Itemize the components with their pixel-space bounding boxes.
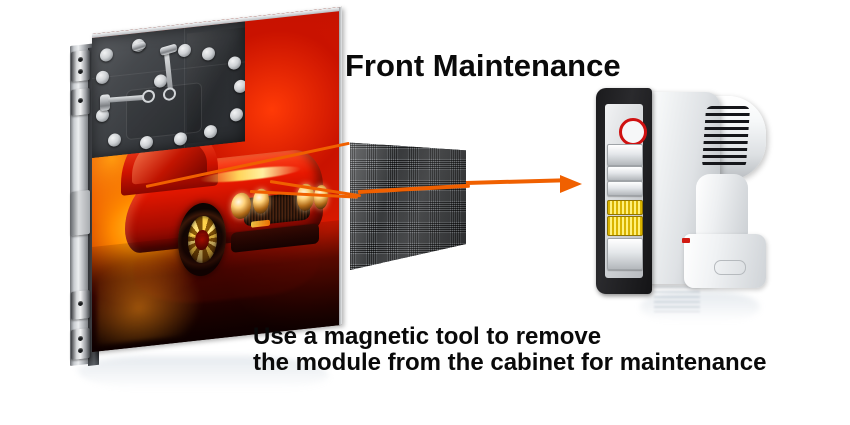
bracket-hole-icon [78, 336, 83, 342]
bracket-hole-icon [78, 348, 83, 354]
caption: Use a magnetic tool to remove the module… [253, 324, 766, 376]
tool-magnet-plate [607, 166, 643, 181]
cabinet-bracket-top [71, 50, 90, 82]
bracket-hole-icon [78, 98, 83, 104]
cavity-magnet [234, 79, 245, 93]
tool-faceplate [596, 88, 652, 294]
caption-line-2: the module from the cabinet for maintena… [253, 350, 766, 376]
tool-base-slot [714, 260, 746, 275]
cavity-magnet [140, 135, 153, 149]
page-title: Front Maintenance [345, 48, 621, 84]
tool-seal-icon [619, 118, 647, 146]
caption-line-1: Use a magnetic tool to remove [253, 324, 766, 350]
arrow-shaft [466, 178, 566, 185]
magnetic-tool [596, 88, 766, 303]
tool-magnet-plate [607, 238, 643, 270]
cabinet-bracket-bottom [71, 328, 90, 360]
led-module [350, 140, 466, 270]
bracket-hole-icon [78, 69, 83, 75]
tool-handle-neck [696, 174, 748, 240]
cavity-magnet [100, 48, 113, 62]
cavity-magnet [96, 70, 109, 84]
tool-indicator [682, 238, 690, 243]
arrow-head-icon [560, 175, 582, 193]
tool-gold-strip [607, 200, 643, 215]
cabinet-module-cavity [92, 21, 245, 158]
bracket-hole-icon [78, 57, 83, 63]
tool-vents [702, 106, 750, 168]
tool-magnet-plate [607, 181, 643, 196]
cabinet-bracket-lower [71, 290, 90, 320]
cavity-magnet [174, 132, 187, 146]
tool-magnet-plate [607, 144, 643, 166]
screen-image-glow [97, 251, 202, 345]
tool-gold-strip [607, 216, 643, 236]
front-maintenance-illustration: Front Maintenance Use a magnetic tool to… [0, 0, 850, 425]
tool-face-window [605, 104, 643, 278]
screen-bezel-right [339, 7, 342, 325]
cabinet-bracket-upper [71, 88, 90, 116]
cabinet-screen [92, 7, 342, 352]
cabinet-bracket-middle [71, 190, 90, 236]
module-pixel-grid [350, 140, 466, 270]
cavity-magnet [108, 133, 121, 147]
bracket-hole-icon [78, 301, 83, 307]
